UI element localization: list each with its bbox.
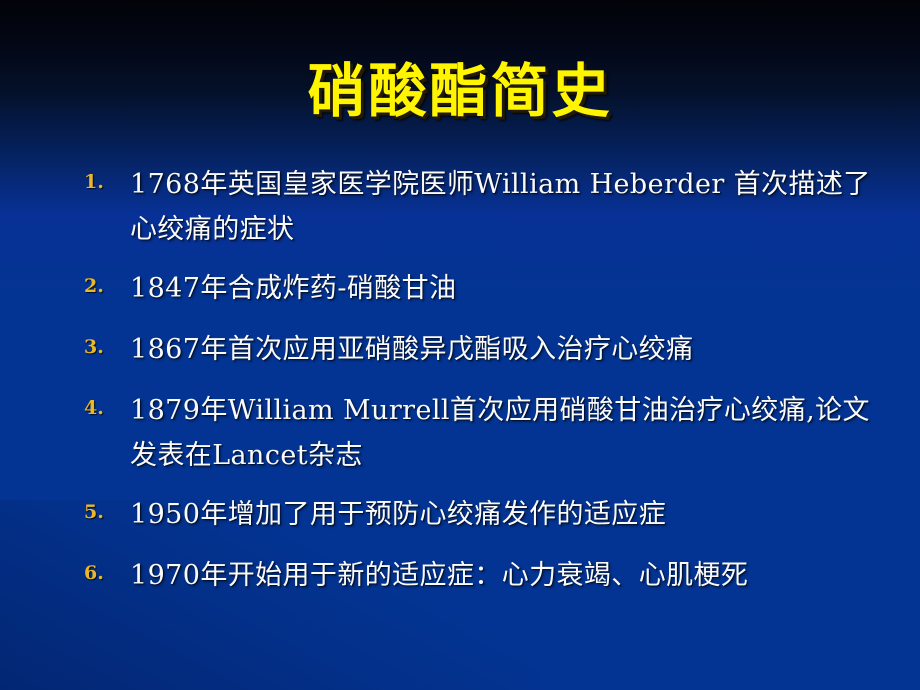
list-item: 1. 1768年英国皇家医学院医师William Heberder 首次描述了心…: [78, 162, 888, 252]
list-item-text: 1879年William Murrell首次应用硝酸甘油治疗心绞痛,论文发表在L…: [130, 388, 888, 478]
list-item: 5. 1950年增加了用于预防心绞痛发作的适应症: [78, 492, 888, 537]
presentation-slide: 硝酸酯简史 1. 1768年英国皇家医学院医师William Heberder …: [0, 0, 920, 690]
list-item-text: 1970年开始用于新的适应症：心力衰竭、心肌梗死: [130, 553, 888, 598]
list-item: 4. 1879年William Murrell首次应用硝酸甘油治疗心绞痛,论文发…: [78, 388, 888, 478]
list-item-number: 2.: [78, 266, 130, 306]
list-item-text: 1950年增加了用于预防心绞痛发作的适应症: [130, 492, 888, 537]
list-item-number: 1.: [78, 162, 130, 202]
slide-bullet-list: 1. 1768年英国皇家医学院医师William Heberder 首次描述了心…: [78, 162, 888, 614]
list-item: 2. 1847年合成炸药-硝酸甘油: [78, 266, 888, 311]
list-item-number: 4.: [78, 388, 130, 428]
list-item-number: 5.: [78, 492, 130, 532]
list-item-text: 1847年合成炸药-硝酸甘油: [130, 266, 888, 311]
slide-title: 硝酸酯简史: [307, 56, 612, 126]
slide-title-block: 硝酸酯简史: [0, 56, 920, 126]
list-item-number: 3.: [78, 327, 130, 367]
list-item: 6. 1970年开始用于新的适应症：心力衰竭、心肌梗死: [78, 553, 888, 598]
list-item-number: 6.: [78, 553, 130, 593]
list-item-text: 1867年首次应用亚硝酸异戊酯吸入治疗心绞痛: [130, 327, 888, 372]
list-item: 3. 1867年首次应用亚硝酸异戊酯吸入治疗心绞痛: [78, 327, 888, 372]
list-item-text: 1768年英国皇家医学院医师William Heberder 首次描述了心绞痛的…: [130, 162, 888, 252]
